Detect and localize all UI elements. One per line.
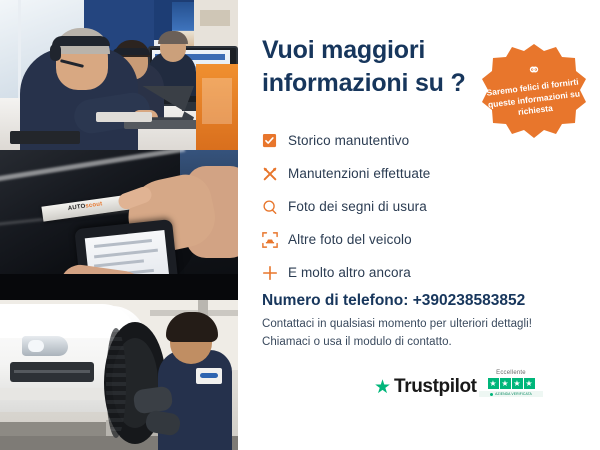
list-item-label: Altre foto del veicolo: [288, 232, 412, 247]
trustpilot-rating-widget[interactable]: Eccellente ★ ★ ★ ★ AZIENDA VERIFICATA: [479, 370, 543, 397]
star-icon: ★: [500, 378, 511, 389]
verified-company-label: AZIENDA VERIFICATA: [495, 392, 532, 396]
list-item-label: Manutenzioni effettuate: [288, 166, 430, 181]
star-icon: ★: [524, 378, 535, 389]
list-item: E molto altro ancora: [262, 258, 562, 287]
checkbox-checked-icon: [262, 133, 288, 148]
phone-number[interactable]: Numero di telefono: +390238583852: [262, 292, 525, 310]
verified-check-icon: [490, 393, 493, 396]
feature-list: Storico manutentivo Manutenzioni effettu…: [262, 126, 562, 291]
star-icon: ★: [488, 378, 499, 389]
list-item: Foto dei segni di usura: [262, 192, 562, 221]
wrench-screwdriver-icon: [262, 166, 288, 182]
contact-note-line-1: Contattaci in qualsiasi momento per ulte…: [262, 318, 532, 330]
trustpilot-star-icon: ★: [374, 378, 391, 397]
content-panel: Vuoi maggiori informazioni su ? ⚭ Saremo…: [238, 0, 600, 450]
plus-icon: [262, 265, 288, 281]
rating-stars: ★ ★ ★ ★: [479, 378, 543, 389]
list-item-label: Storico manutentivo: [288, 133, 409, 148]
promo-card: AUTOscout Vuoi maggiori informazioni su …: [0, 0, 600, 450]
star-icon: ★: [512, 378, 523, 389]
car-focus-frame-icon: [262, 232, 288, 248]
verified-company-badge: AZIENDA VERIFICATA: [479, 391, 543, 397]
rating-label: Eccellente: [479, 370, 543, 376]
trustpilot-logo[interactable]: ★ Trustpilot: [374, 376, 477, 398]
list-item: Manutenzioni effettuate: [262, 159, 562, 188]
photo-column: AUTOscout: [0, 0, 238, 450]
car-inspection-tablet-photo: AUTOscout: [0, 150, 238, 300]
mechanic-wheel-service-photo: [0, 300, 238, 450]
page-title: Vuoi maggiori informazioni su ?: [262, 34, 512, 100]
list-item-label: E molto altro ancora: [288, 265, 411, 280]
list-item-label: Foto dei segni di usura: [288, 199, 427, 214]
contact-note-line-2: Chiamaci o usa il modulo di contatto.: [262, 336, 452, 348]
magnifier-icon: [262, 199, 288, 215]
list-item: Altre foto del veicolo: [262, 225, 562, 254]
list-item: Storico manutentivo: [262, 126, 562, 155]
trustpilot-wordmark: Trustpilot: [394, 376, 477, 398]
call-center-agents-photo: [0, 0, 238, 150]
